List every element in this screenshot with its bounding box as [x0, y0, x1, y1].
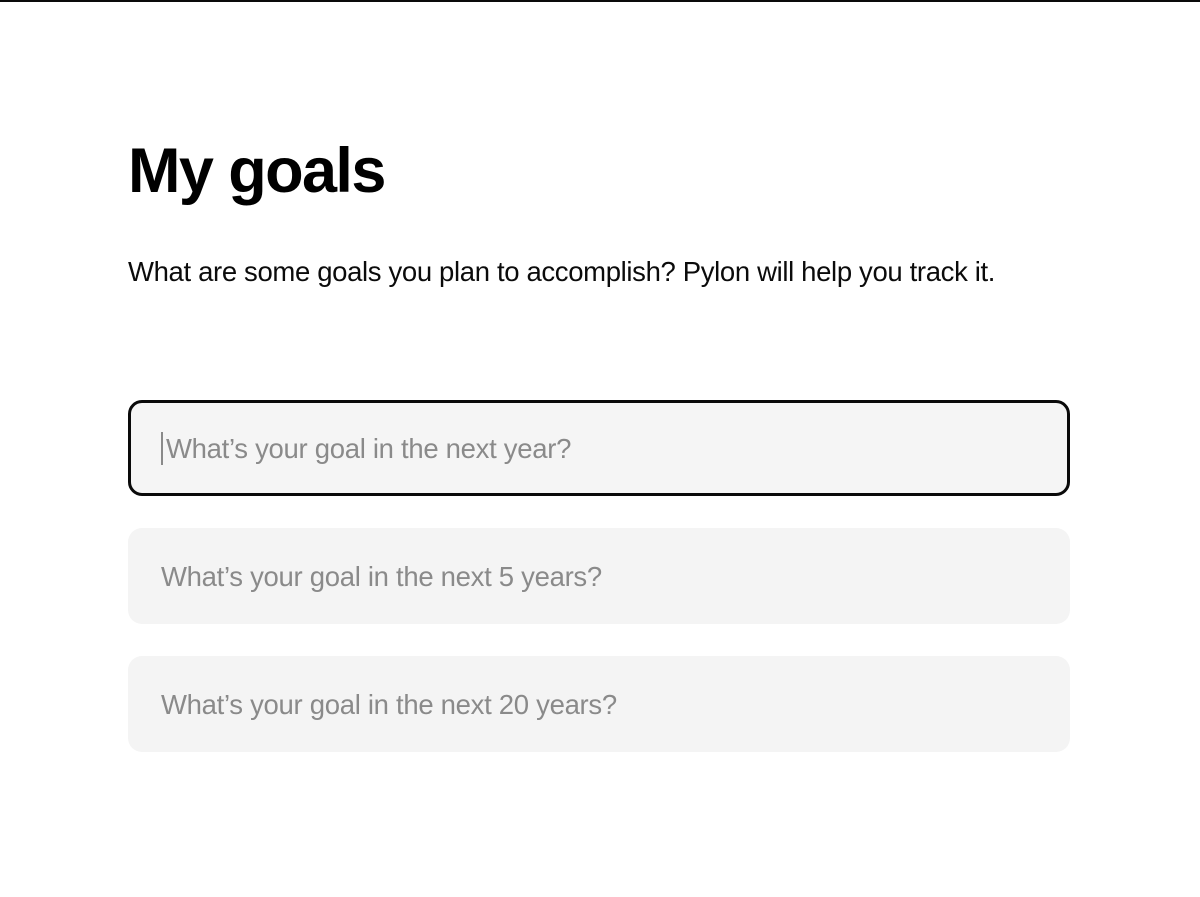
- my-goals-page: My goals What are some goals you plan to…: [0, 0, 1200, 897]
- goal-input-5-years-placeholder: What’s your goal in the next 5 years?: [161, 560, 602, 593]
- goal-input-1-year-placeholder: What’s your goal in the next year?: [166, 432, 571, 465]
- goal-input-20-years-placeholder: What’s your goal in the next 20 years?: [161, 688, 617, 721]
- goal-input-5-years[interactable]: What’s your goal in the next 5 years?: [128, 528, 1070, 624]
- goals-field-list: What’s your goal in the next year? What’…: [128, 400, 1070, 752]
- page-subtitle: What are some goals you plan to accompli…: [128, 248, 1040, 296]
- text-caret: [161, 432, 163, 465]
- goal-input-1-year[interactable]: What’s your goal in the next year?: [128, 400, 1070, 496]
- page-title: My goals: [128, 133, 385, 209]
- goal-input-20-years[interactable]: What’s your goal in the next 20 years?: [128, 656, 1070, 752]
